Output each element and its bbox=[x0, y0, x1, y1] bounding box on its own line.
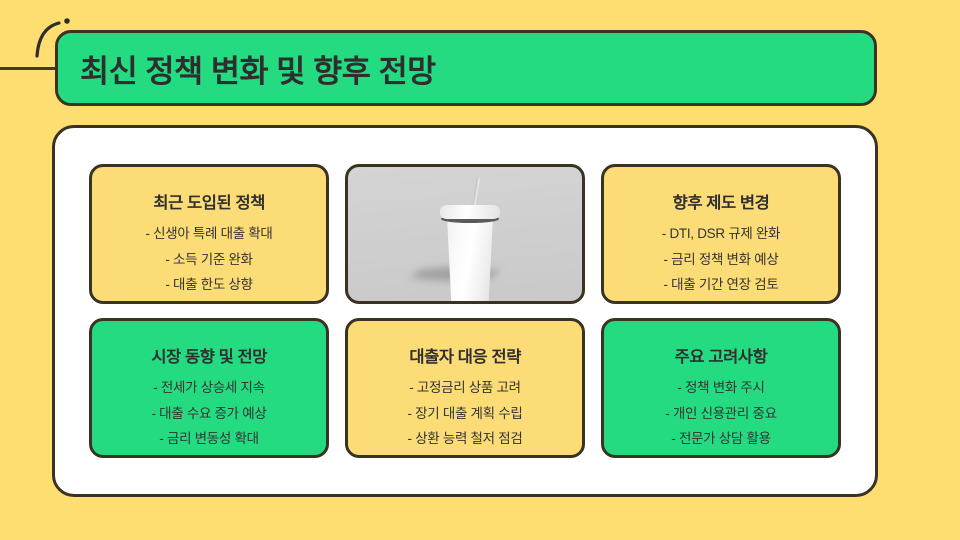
card-borrower-strategy[interactable]: 대출자 대응 전략 - 고정금리 상품 고려 - 장기 대출 계획 수립 - 상… bbox=[345, 318, 585, 458]
card-item: - 개인 신용관리 중요 bbox=[665, 407, 777, 421]
card-item: - 신생아 특례 대출 확대 bbox=[145, 227, 272, 241]
card-key-considerations[interactable]: 주요 고려사항 - 정책 변화 주시 - 개인 신용관리 중요 - 전문가 상담… bbox=[601, 318, 841, 458]
card-title: 최근 도입된 정책 bbox=[153, 189, 265, 213]
card-item: - 대출 수요 증가 예상 bbox=[152, 407, 267, 421]
card-row-top: 최근 도입된 정책 - 신생아 특례 대출 확대 - 소득 기준 완화 - 대출… bbox=[89, 164, 841, 304]
card-title: 시장 동향 및 전망 bbox=[151, 343, 267, 367]
card-item: - DTI, DSR 규제 완화 bbox=[662, 227, 780, 241]
card-item: - 금리 정책 변화 예상 bbox=[664, 253, 779, 267]
card-item: - 전문가 상담 활용 bbox=[671, 432, 770, 446]
content-panel: 최근 도입된 정책 - 신생아 특례 대출 확대 - 소득 기준 완화 - 대출… bbox=[52, 125, 878, 497]
slide-title-bar: 최신 정책 변화 및 향후 전망 bbox=[55, 30, 877, 106]
card-item: - 상환 능력 철저 점검 bbox=[408, 432, 523, 446]
card-title: 주요 고려사항 bbox=[675, 343, 768, 367]
card-future-system-changes[interactable]: 향후 제도 변경 - DTI, DSR 규제 완화 - 금리 정책 변화 예상 … bbox=[601, 164, 841, 304]
page-title: 최신 정책 변화 및 향후 전망 bbox=[80, 46, 436, 91]
tumbler-cup-image bbox=[345, 164, 585, 304]
card-market-trends[interactable]: 시장 동향 및 전망 - 전세가 상승세 지속 - 대출 수요 증가 예상 - … bbox=[89, 318, 329, 458]
card-title: 향후 제도 변경 bbox=[673, 189, 770, 213]
cup-body bbox=[444, 219, 496, 303]
card-item: - 고정금리 상품 고려 bbox=[409, 381, 521, 395]
card-item: - 정책 변화 주시 bbox=[677, 381, 764, 395]
card-row-bottom: 시장 동향 및 전망 - 전세가 상승세 지속 - 대출 수요 증가 예상 - … bbox=[89, 318, 841, 458]
card-item: - 소득 기준 완화 bbox=[165, 253, 252, 267]
card-item: - 전세가 상승세 지속 bbox=[153, 381, 265, 395]
dot-icon bbox=[64, 18, 70, 24]
card-recent-policies[interactable]: 최근 도입된 정책 - 신생아 특례 대출 확대 - 소득 기준 완화 - 대출… bbox=[89, 164, 329, 304]
card-item: - 대출 한도 상향 bbox=[165, 278, 252, 292]
card-item: - 금리 변동성 확대 bbox=[159, 432, 258, 446]
card-item: - 대출 기간 연장 검토 bbox=[664, 278, 779, 292]
card-item: - 장기 대출 계획 수립 bbox=[408, 407, 523, 421]
card-title: 대출자 대응 전략 bbox=[409, 343, 521, 367]
cup-lid bbox=[440, 205, 500, 219]
